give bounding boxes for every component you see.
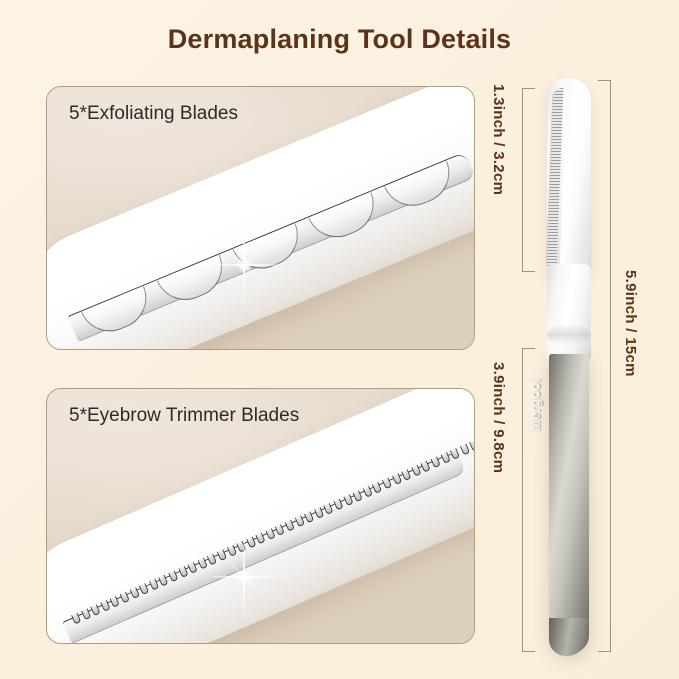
measurement-bracket-total-length <box>598 80 611 652</box>
comb-tooth <box>469 439 475 451</box>
measurement-bracket-blade-head <box>522 88 535 272</box>
product-brand-text: Mergool <box>529 378 609 431</box>
card-label-eyebrow-trimmer: 5*Eyebrow Trimmer Blades <box>69 405 299 427</box>
infographic-canvas: Dermaplaning Tool Details 5*Exfoliating … <box>0 0 679 679</box>
measurement-label-total-length: 5.9inch / 15cm <box>622 270 639 377</box>
card-label-exfoliating: 5*Exfoliating Blades <box>69 103 238 125</box>
measurement-label-handle: 3.9inch / 9.8cm <box>490 362 507 473</box>
product-photo: Mergool <box>535 78 597 653</box>
product-neck-seam <box>547 324 591 346</box>
measurement-bracket-handle <box>522 348 535 652</box>
page-title: Dermaplaning Tool Details <box>0 24 679 55</box>
product-handle-tip <box>549 618 589 656</box>
measurement-label-blade-head: 1.3inch / 3.2cm <box>490 84 507 195</box>
feature-card-eyebrow-trimmer: 5*Eyebrow Trimmer Blades <box>46 388 475 644</box>
feature-card-exfoliating: 5*Exfoliating Blades <box>46 86 475 350</box>
